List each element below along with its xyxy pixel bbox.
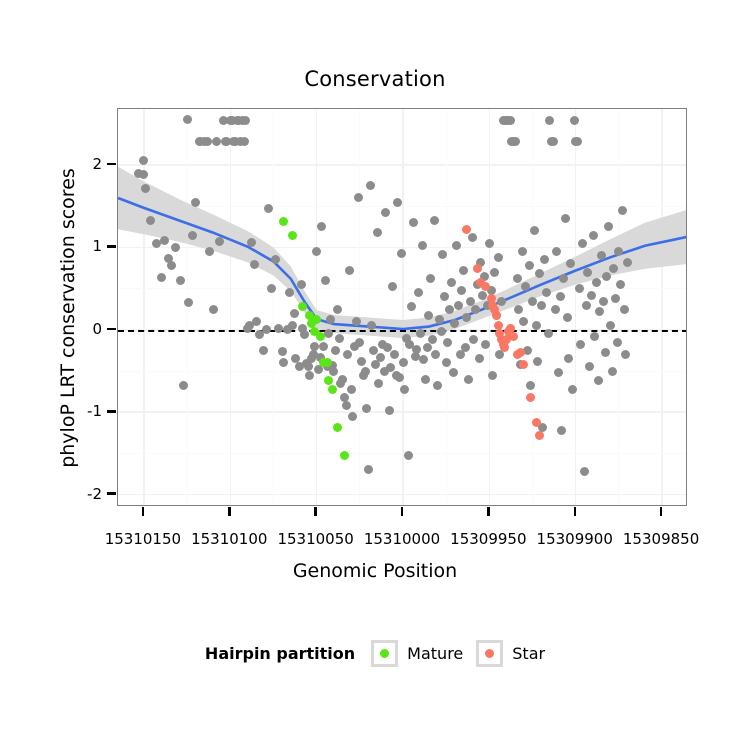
scatter-point-other bbox=[468, 233, 477, 242]
scatter-point-mature bbox=[316, 332, 325, 341]
scatter-point-other bbox=[390, 350, 399, 359]
x-axis-tick bbox=[660, 507, 663, 516]
scatter-point-other bbox=[262, 325, 271, 334]
scatter-point-other bbox=[160, 236, 169, 245]
scatter-point-other bbox=[438, 250, 447, 259]
scatter-point-other bbox=[183, 115, 192, 124]
scatter-point-other bbox=[430, 216, 439, 225]
scatter-point-other bbox=[589, 231, 598, 240]
scatter-point-other bbox=[568, 385, 577, 394]
scatter-point-other bbox=[575, 284, 584, 293]
legend-item-star[interactable]: Star bbox=[476, 640, 545, 667]
scatter-point-other bbox=[613, 338, 622, 347]
scatter-point-other bbox=[561, 214, 570, 223]
scatter-point-other bbox=[454, 301, 463, 310]
scatter-point-other bbox=[209, 305, 218, 314]
scatter-point-other bbox=[623, 258, 632, 267]
scatter-point-other bbox=[373, 228, 382, 237]
legend-item-mature[interactable]: Mature bbox=[371, 640, 463, 667]
scatter-point-other bbox=[191, 198, 200, 207]
scatter-point-other bbox=[525, 261, 534, 270]
scatter-point-other bbox=[376, 353, 385, 362]
x-axis-tick bbox=[228, 507, 231, 516]
scatter-point-other bbox=[355, 338, 364, 347]
scatter-point-other bbox=[188, 231, 197, 240]
scatter-point-other bbox=[518, 247, 527, 256]
scatter-point-other bbox=[447, 278, 456, 287]
scatter-point-other bbox=[424, 311, 433, 320]
scatter-point-other bbox=[259, 346, 268, 355]
legend-label: Mature bbox=[407, 644, 463, 663]
scatter-point-other bbox=[421, 375, 430, 384]
scatter-point-other bbox=[333, 305, 342, 314]
scatter-point-mature bbox=[340, 451, 349, 460]
scatter-point-other bbox=[399, 358, 408, 367]
legend-title: Hairpin partition bbox=[205, 644, 355, 663]
scatter-point-other bbox=[620, 305, 629, 314]
y-axis-tick bbox=[107, 163, 116, 166]
x-axis-tick bbox=[314, 507, 317, 516]
scatter-point-other bbox=[494, 253, 503, 262]
legend-key-swatch bbox=[476, 640, 503, 667]
scatter-point-other bbox=[533, 357, 542, 366]
scatter-point-other bbox=[587, 291, 596, 300]
scatter-point-other bbox=[497, 297, 506, 306]
legend-entries: MatureStar bbox=[371, 640, 545, 667]
page-title: Conservation bbox=[0, 67, 750, 91]
scatter-point-other bbox=[537, 301, 546, 310]
x-axis-tick-label: 15309850 bbox=[601, 530, 721, 548]
scatter-point-star bbox=[473, 264, 482, 273]
scatter-point-other bbox=[418, 241, 427, 250]
scatter-point-star bbox=[509, 332, 518, 341]
scatter-point-other bbox=[611, 294, 620, 303]
zero-reference-line bbox=[118, 330, 687, 332]
scatter-point-other bbox=[329, 367, 338, 376]
scatter-point-other bbox=[606, 321, 615, 330]
scatter-point-other bbox=[397, 249, 406, 258]
scatter-point-star bbox=[535, 431, 544, 440]
scatter-point-other bbox=[366, 181, 375, 190]
scatter-point-other bbox=[457, 286, 466, 295]
scatter-point-other bbox=[146, 216, 155, 225]
scatter-point-other bbox=[347, 385, 356, 394]
scatter-point-other bbox=[563, 313, 572, 322]
legend: Hairpin partition MatureStar bbox=[0, 640, 750, 667]
y-axis-tick bbox=[107, 245, 116, 248]
scatter-point-other bbox=[252, 317, 261, 326]
scatter-point-other bbox=[514, 305, 523, 314]
scatter-point-other bbox=[532, 321, 541, 330]
scatter-point-other bbox=[449, 368, 458, 377]
scatter-point-other bbox=[475, 354, 484, 363]
scatter-point-other bbox=[345, 266, 354, 275]
y-axis-tick bbox=[107, 410, 116, 413]
scatter-point-other bbox=[459, 266, 468, 275]
scatter-point-other bbox=[464, 375, 473, 384]
scatter-point-other bbox=[393, 198, 402, 207]
scatter-point-other bbox=[297, 280, 306, 289]
scatter-point-mature bbox=[279, 217, 288, 226]
scatter-point-other bbox=[264, 204, 273, 213]
scatter-point-other bbox=[271, 255, 280, 264]
scatter-point-other bbox=[290, 309, 299, 318]
scatter-point-other bbox=[570, 116, 579, 125]
scatter-point-other bbox=[342, 401, 351, 410]
scatter-point-other bbox=[305, 371, 314, 380]
legend-label: Star bbox=[512, 644, 545, 663]
y-axis-tick bbox=[107, 492, 116, 495]
scatter-point-other bbox=[385, 406, 394, 415]
scatter-point-other bbox=[450, 319, 459, 328]
legend-dot-icon bbox=[485, 649, 494, 658]
scatter-point-other bbox=[335, 334, 344, 343]
scatter-point-star bbox=[532, 418, 541, 427]
legend-dot-icon bbox=[380, 649, 389, 658]
scatter-point-other bbox=[278, 347, 287, 356]
scatter-point-mature bbox=[333, 423, 342, 432]
scatter-point-other bbox=[506, 116, 515, 125]
scatter-point-other bbox=[400, 385, 409, 394]
scatter-point-other bbox=[352, 317, 361, 326]
scatter-point-other bbox=[478, 291, 487, 300]
y-axis-tick-label: 1 bbox=[62, 237, 102, 255]
x-axis-tick bbox=[574, 507, 577, 516]
y-axis-tick-label: 2 bbox=[62, 155, 102, 173]
scatter-point-other bbox=[471, 305, 480, 314]
scatter-point-other bbox=[274, 324, 283, 333]
x-axis-tick bbox=[401, 507, 404, 516]
scatter-point-other bbox=[357, 357, 366, 366]
scatter-point-other bbox=[513, 274, 522, 283]
scatter-point-other bbox=[442, 358, 451, 367]
scatter-point-other bbox=[601, 348, 610, 357]
scatter-point-other bbox=[608, 367, 617, 376]
scatter-point-other bbox=[599, 297, 608, 306]
y-axis-tick-label: 0 bbox=[62, 320, 102, 338]
scatter-point-other bbox=[247, 238, 256, 247]
y-axis-tick bbox=[107, 328, 116, 331]
scatter-point-other bbox=[404, 451, 413, 460]
x-axis-tick bbox=[142, 507, 145, 516]
scatter-point-other bbox=[321, 276, 330, 285]
scatter-point-other bbox=[362, 404, 371, 413]
chart-root: Conservation phyloP LRT conservation sco… bbox=[0, 0, 750, 750]
scatter-point-other bbox=[551, 305, 560, 314]
scatter-point-other bbox=[580, 467, 589, 476]
scatter-point-mature bbox=[328, 385, 337, 394]
scatter-point-other bbox=[361, 367, 370, 376]
scatter-point-other bbox=[592, 278, 601, 287]
scatter-point-other bbox=[171, 243, 180, 252]
scatter-point-other bbox=[578, 239, 587, 248]
scatter-point-other bbox=[319, 342, 328, 351]
scatter-point-other bbox=[338, 375, 347, 384]
x-axis-label: Genomic Position bbox=[0, 560, 750, 582]
y-axis-tick-label: -1 bbox=[62, 402, 102, 420]
legend-key-swatch bbox=[371, 640, 398, 667]
scatter-point-other bbox=[285, 288, 294, 297]
plot-panel bbox=[117, 108, 687, 506]
scatter-point-other bbox=[141, 184, 150, 193]
scatter-point-other bbox=[445, 305, 454, 314]
scatter-point-other bbox=[488, 371, 497, 380]
scatter-point-other bbox=[609, 264, 618, 273]
scatter-point-other bbox=[176, 276, 185, 285]
scatter-point-other bbox=[618, 206, 627, 215]
scatter-point-other bbox=[409, 218, 418, 227]
scatter-point-other bbox=[583, 268, 592, 277]
y-axis-tick-label: -2 bbox=[62, 485, 102, 503]
scatter-point-other bbox=[485, 239, 494, 248]
scatter-point-other bbox=[528, 297, 537, 306]
scatter-point-other bbox=[490, 268, 499, 277]
x-axis-tick bbox=[487, 507, 490, 516]
scatter-point-other bbox=[437, 327, 446, 336]
scatter-point-star bbox=[492, 311, 501, 320]
scatter-point-other bbox=[582, 301, 591, 310]
scatter-point-mature bbox=[323, 358, 332, 367]
scatter-point-other bbox=[331, 346, 340, 355]
